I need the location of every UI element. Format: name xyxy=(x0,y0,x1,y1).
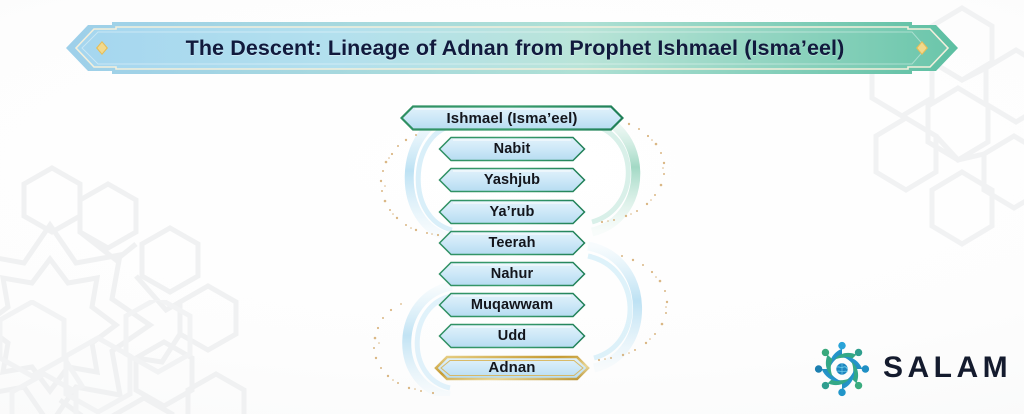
lineage-node[interactable]: Teerah xyxy=(438,230,586,256)
salam-people-circle-globe-icon xyxy=(812,339,872,399)
lineage-node-label: Muqawwam xyxy=(471,297,553,313)
lineage-node[interactable]: Udd xyxy=(438,323,586,349)
lineage-node-label: Adnan xyxy=(488,359,535,376)
salam-logo: SALAM xyxy=(812,338,1012,400)
banner-title: The Descent: Lineage of Adnan from Proph… xyxy=(66,21,958,75)
lineage-node-label: Teerah xyxy=(488,235,535,251)
slide-canvas: The Descent: Lineage of Adnan from Proph… xyxy=(0,0,1024,414)
lineage-node[interactable]: Nahur xyxy=(438,261,586,287)
lineage-node-label: Nahur xyxy=(491,266,533,282)
lineage-node-label: Yashjub xyxy=(484,172,540,188)
lineage-node[interactable]: Ishmael (Isma’eel) xyxy=(400,105,624,131)
salam-wordmark: SALAM xyxy=(883,353,1012,385)
lineage-node-label: Ya’rub xyxy=(490,204,535,220)
lineage-node-label: Udd xyxy=(498,328,527,344)
lineage-node[interactable]: Yashjub xyxy=(438,167,586,193)
lineage-node-label: Nabit xyxy=(494,141,531,157)
lineage-node[interactable]: Nabit xyxy=(438,136,586,162)
lineage-node[interactable]: Muqawwam xyxy=(438,292,586,318)
title-banner: The Descent: Lineage of Adnan from Proph… xyxy=(66,21,958,75)
lineage-node[interactable]: Ya’rub xyxy=(438,199,586,225)
lineage-node-label: Ishmael (Isma’eel) xyxy=(446,110,577,127)
lineage-node[interactable]: Adnan xyxy=(433,355,591,381)
